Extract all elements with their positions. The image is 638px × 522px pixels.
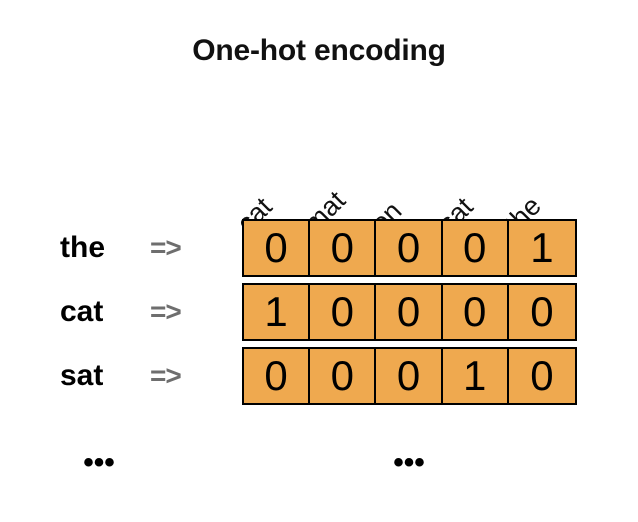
arrow-icon: => — [150, 232, 181, 264]
table-row: 0 0 0 1 0 — [242, 347, 577, 405]
matrix-cell: 1 — [509, 221, 575, 275]
matrix-cell: 0 — [244, 349, 310, 403]
arrow-icon: => — [150, 296, 181, 328]
matrix-cell: 0 — [443, 285, 509, 339]
matrix-cell: 0 — [310, 349, 376, 403]
matrix-cell: 0 — [509, 285, 575, 339]
matrix-cell: 0 — [443, 221, 509, 275]
matrix-cell: 1 — [244, 285, 310, 339]
matrix-cell: 0 — [244, 221, 310, 275]
matrix-cell: 1 — [443, 349, 509, 403]
row-label-cat: cat => — [60, 283, 236, 341]
ellipsis-matrix: ••• — [393, 448, 425, 478]
one-hot-matrix: 0 0 0 0 1 1 0 0 0 0 0 0 0 1 0 — [242, 219, 577, 405]
arrow-icon: => — [150, 360, 181, 392]
matrix-cell: 0 — [310, 221, 376, 275]
matrix-cell: 0 — [509, 349, 575, 403]
matrix-cell: 0 — [376, 349, 442, 403]
row-word-sat: sat — [60, 359, 144, 393]
table-row: 0 0 0 0 1 — [242, 219, 577, 277]
table-row: 1 0 0 0 0 — [242, 283, 577, 341]
row-label-the: the => — [60, 219, 236, 277]
ellipsis-rows: ••• — [83, 448, 115, 478]
row-word-cat: cat — [60, 295, 144, 329]
matrix-cell: 0 — [376, 221, 442, 275]
column-header-row: cat mat on sat the — [0, 0, 638, 222]
row-word-the: the — [60, 231, 144, 265]
matrix-cell: 0 — [376, 285, 442, 339]
row-label-sat: sat => — [60, 347, 236, 405]
matrix-cell: 0 — [310, 285, 376, 339]
